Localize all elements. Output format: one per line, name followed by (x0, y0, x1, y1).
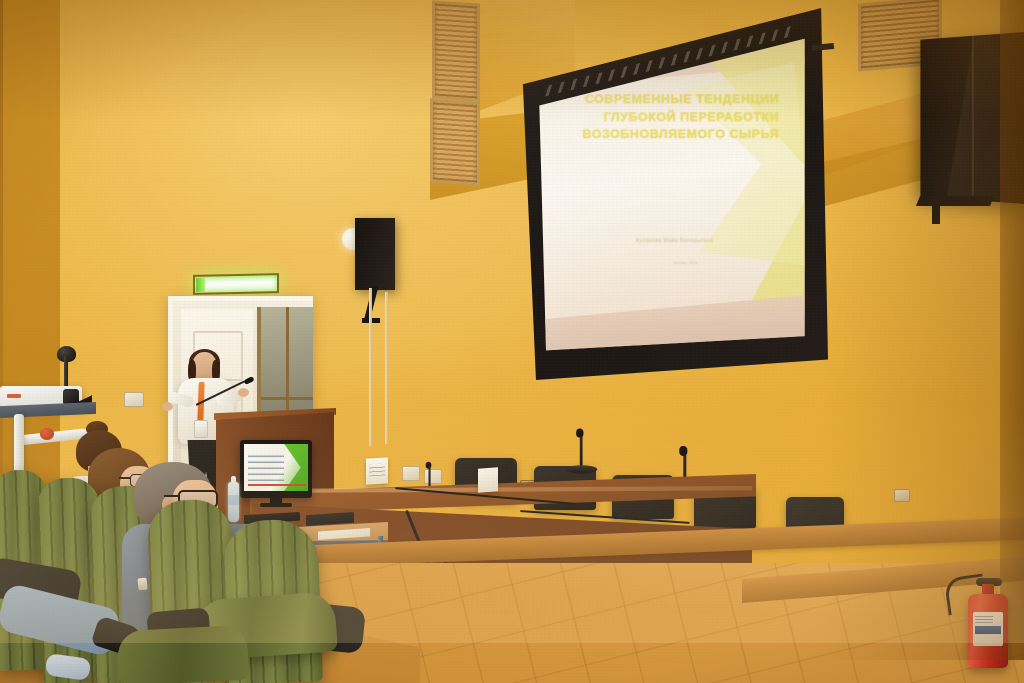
wall-speaker-center (355, 218, 395, 290)
chair-seat-tag (137, 578, 147, 591)
vent-grille-lower-icon (430, 98, 480, 185)
audience-chair-seat (117, 625, 250, 683)
wall-outlet-left (124, 392, 144, 407)
name-card-text (369, 464, 385, 477)
mic-base (566, 465, 597, 473)
podium-microphone (196, 370, 252, 414)
projection-screen: СОВРЕМЕННЫЕ ТЕНДЕНЦИИ ГЛУБОКОЙ ПЕРЕРАБОТ… (516, 8, 828, 380)
mic-capsule (576, 428, 583, 437)
extinguisher-label-band (975, 626, 1001, 634)
slide-title: СОВРЕМЕННЫЕ ТЕНДЕНЦИИ ГЛУБОКОЙ ПЕРЕРАБОТ… (565, 91, 779, 144)
fire-extinguisher (968, 576, 1008, 668)
wall-outlet-right (894, 489, 910, 502)
mic-capsule (426, 462, 432, 469)
presenter-badge (194, 420, 208, 438)
conference-hall-photo: СОВРЕМЕННЫЕ ТЕНДЕНЦИИ ГЛУБОКОЙ ПЕРЕРАБОТ… (0, 0, 1024, 683)
exit-sign (193, 273, 279, 295)
name-place-card (478, 467, 498, 492)
speaker-mount-arm-right (916, 196, 994, 206)
wall-corner-right (1000, 0, 1024, 660)
name-place-card (366, 457, 388, 484)
projector-logo (7, 394, 21, 398)
wall-outlet-b (424, 469, 442, 484)
speaker-mount-post-right (932, 198, 940, 224)
wall-conduit-right (385, 292, 388, 444)
mic-neck (580, 434, 582, 469)
projector-cart-knob[interactable] (40, 428, 54, 440)
sock (45, 653, 92, 681)
audience-member-far-left (0, 560, 130, 683)
podium-mic-stalk (196, 380, 245, 405)
vent-grille-upper-icon (432, 0, 480, 101)
wall-outlet-a (402, 466, 420, 481)
presenter-hand-left (162, 402, 173, 411)
extinguisher-label (973, 612, 1003, 646)
wall-conduit-left (369, 288, 372, 446)
mic-capsule (679, 446, 687, 456)
slide-affiliation: Москва, 2018 (618, 261, 752, 265)
extinguisher-label-text (975, 615, 993, 623)
slide-author: Кулакова Майя Валерьевна (586, 238, 763, 244)
